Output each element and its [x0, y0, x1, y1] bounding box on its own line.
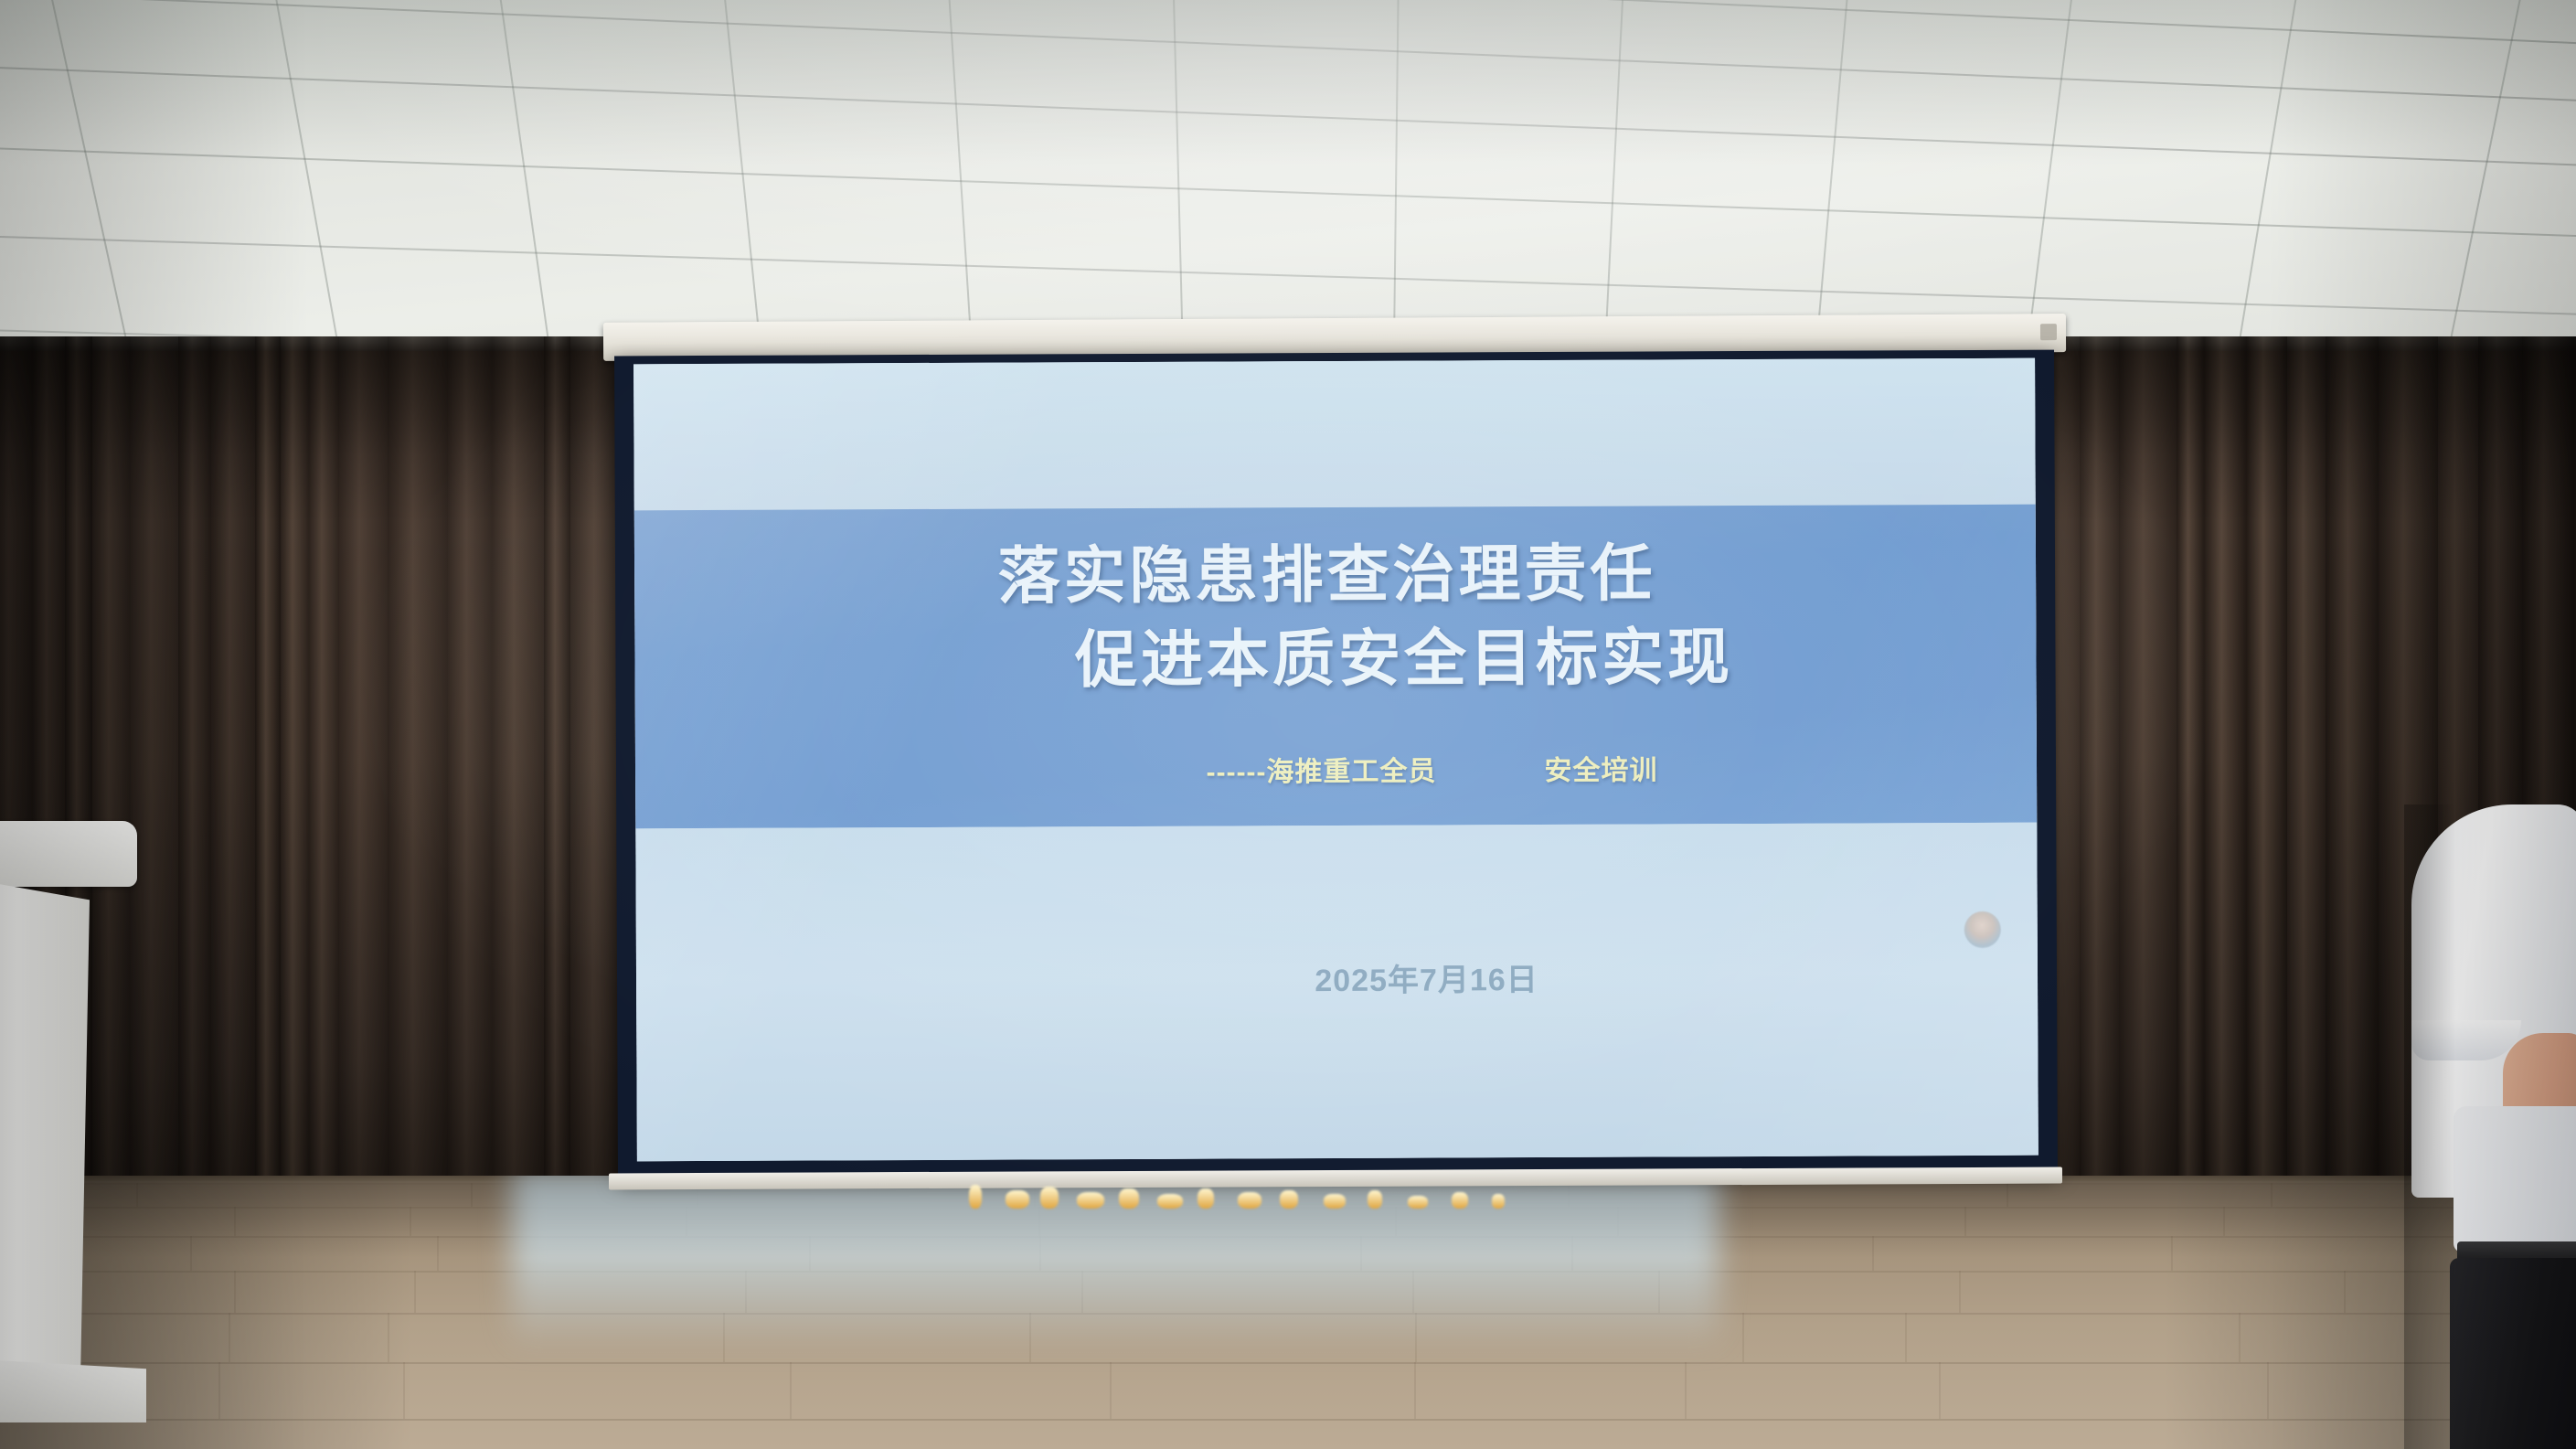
slide-title-line-1: 落实隐患排查治理责任: [634, 541, 2036, 610]
slide-date: 2025年7月16日: [636, 953, 2038, 1004]
slide-title-line-2: 促进本质安全目标实现: [634, 625, 2036, 694]
lectern-base: [0, 1358, 146, 1422]
slide-top-band: [633, 358, 2036, 511]
slide-subtitle-right: 安全培训: [1544, 747, 1657, 788]
ceiling-shading: [0, 0, 2576, 366]
presentation-slide: 落实隐患排查治理责任 促进本质安全目标实现 ------海推重工全员 安全培训 …: [633, 358, 2038, 1162]
lectern: [0, 821, 146, 1449]
slide-subtitle-left: ------海推重工全员: [1206, 749, 1436, 790]
standing-person: [2404, 804, 2576, 1449]
suspended-ceiling: [0, 0, 2576, 366]
screen-surface: 落实隐患排查治理责任 促进本质安全目标实现 ------海推重工全员 安全培训 …: [633, 358, 2038, 1162]
housing-endcap: [2040, 324, 2057, 340]
lectern-top: [0, 821, 137, 887]
wood-floor: [0, 1176, 2576, 1449]
weight-bar-reflections: [969, 1176, 1536, 1209]
screen-border: 落实隐患排查治理责任 促进本质安全目标实现 ------海推重工全员 安全培训 …: [614, 350, 2058, 1179]
floor-shading: [0, 1176, 2576, 1449]
slide-subtitle-row: ------海推重工全员 安全培训: [635, 746, 2037, 793]
projection-screen-unit: 落实隐患排查治理责任 促进本质安全目标实现 ------海推重工全员 安全培训 …: [603, 318, 2066, 1196]
conference-room-scene: 落实隐患排查治理责任 促进本质安全目标实现 ------海推重工全员 安全培训 …: [0, 0, 2576, 1449]
person-shirt-lower: [2454, 1106, 2576, 1252]
person-trousers: [2450, 1258, 2576, 1449]
presenter-avatar-icon: [1964, 911, 2001, 948]
lectern-body: [0, 879, 90, 1391]
